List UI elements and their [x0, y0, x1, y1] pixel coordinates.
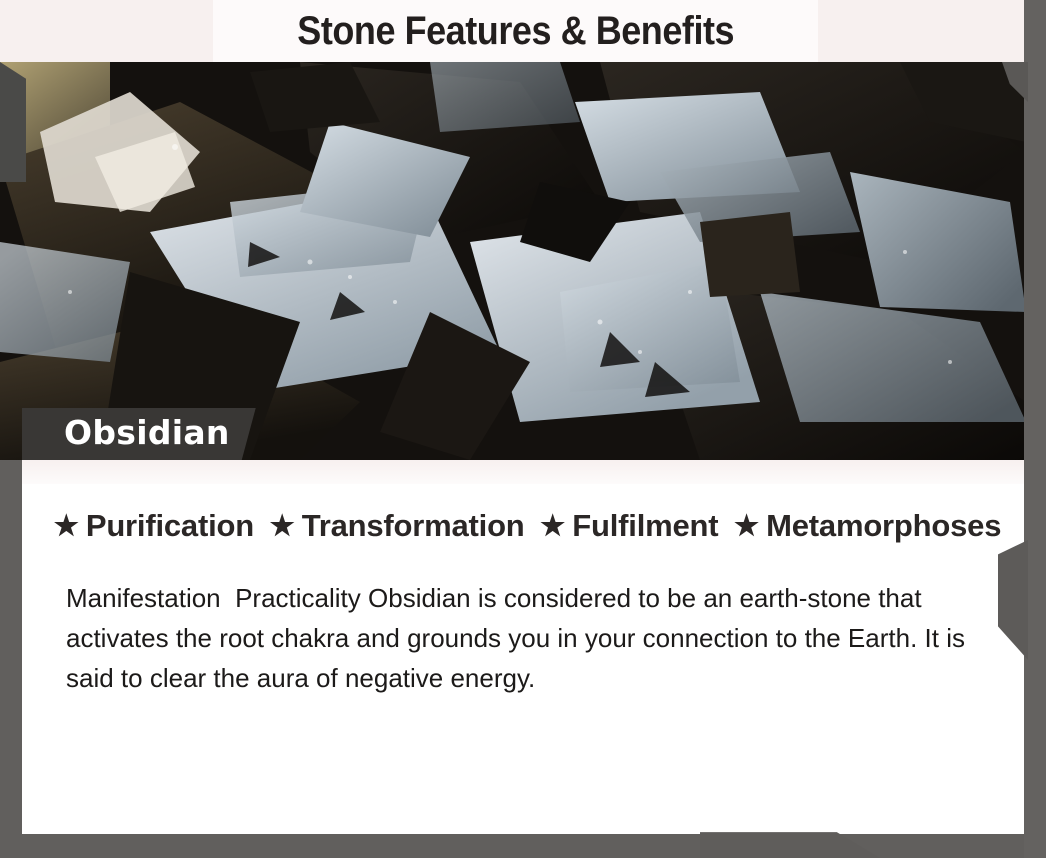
content-card: ★Purification ★Transformation ★Fulfilmen…	[22, 460, 1026, 834]
star-icon: ★	[734, 510, 759, 541]
page-title: Stone Features & Benefits	[297, 9, 734, 54]
keyword-item: Metamorphoses	[766, 508, 1001, 543]
frame-edge-right	[1024, 0, 1046, 858]
frame-chip-top-left	[0, 62, 26, 182]
keyword-item: Purification	[86, 508, 254, 543]
keyword-item: Transformation	[302, 508, 525, 543]
description-paragraph: Manifestation Practicality Obsidian is c…	[66, 578, 986, 698]
star-icon: ★	[270, 510, 295, 541]
card-top-band	[22, 460, 1026, 484]
star-icon: ★	[540, 510, 565, 541]
obsidian-photo-illustration	[0, 62, 1026, 460]
star-icon: ★	[54, 510, 79, 541]
stone-name-banner: Obsidian	[22, 408, 256, 460]
title-plate: Stone Features & Benefits	[213, 0, 818, 62]
stone-photo: Obsidian	[0, 62, 1026, 460]
keyword-list: ★Purification ★Transformation ★Fulfilmen…	[22, 508, 1026, 544]
poster-root: Stone Features & Benefits	[0, 0, 1046, 858]
keyword-item: Fulfilment	[572, 508, 718, 543]
stone-name-label: Obsidian	[64, 413, 230, 452]
